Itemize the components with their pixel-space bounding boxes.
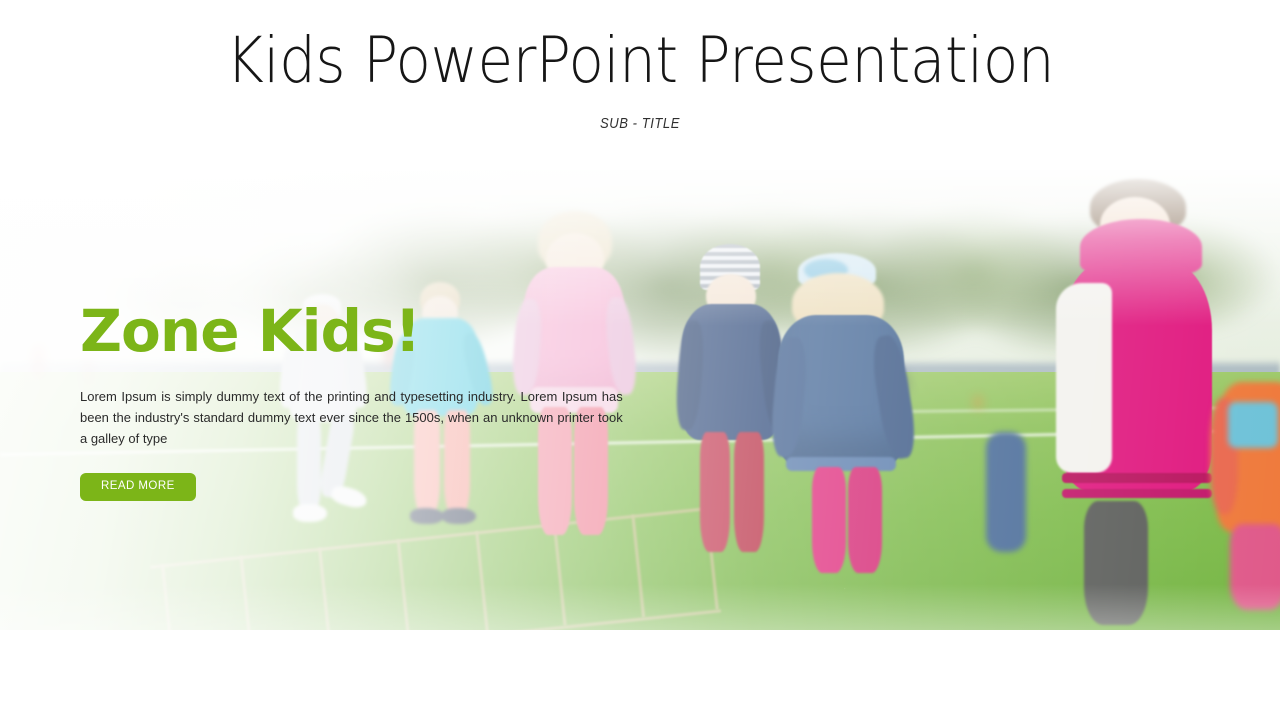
- title-block: Kids PowerPoint Presentation SUB - TITLE: [0, 28, 1280, 132]
- page-subtitle: SUB - TITLE: [64, 116, 1216, 132]
- page-title: Kids PowerPoint Presentation: [51, 28, 1229, 94]
- hero-content: Zone Kids! Lorem Ipsum is simply dummy t…: [80, 302, 640, 501]
- slide-root: Kids PowerPoint Presentation SUB - TITLE: [0, 0, 1280, 720]
- hero-banner: Zone Kids! Lorem Ipsum is simply dummy t…: [0, 170, 1280, 630]
- photo-child-denim-jacket: [774, 253, 912, 630]
- hero-body-text: Lorem Ipsum is simply dummy text of the …: [80, 386, 623, 449]
- photo-child-blue-sleeve: [986, 432, 1028, 625]
- hero-headline: Zone Kids!: [80, 302, 640, 360]
- photo-child-striped-beanie: [678, 244, 786, 630]
- photo-child-orange-jacket: [1210, 382, 1280, 630]
- read-more-button[interactable]: READ MORE: [80, 473, 196, 501]
- photo-background-figure: [32, 345, 44, 379]
- photo-background-figure: [973, 395, 983, 409]
